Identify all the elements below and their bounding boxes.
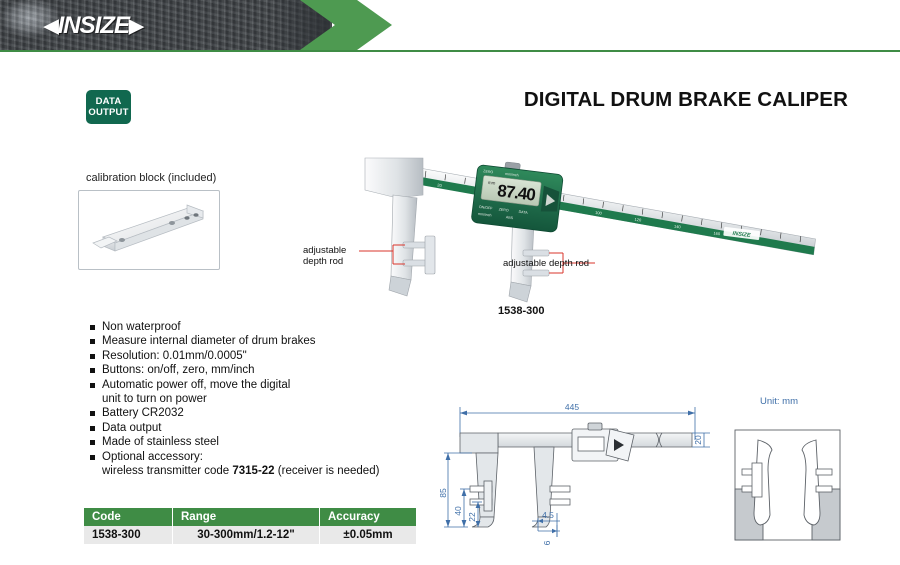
- accessory-code: 7315-22: [232, 465, 274, 477]
- calibration-block-drawing: [79, 191, 219, 269]
- accessory-prefix: wireless transmitter code: [102, 465, 232, 477]
- logo-left-arrow-icon: ◀: [44, 16, 58, 37]
- dimension-text-4-5: 4.5: [542, 510, 554, 520]
- table-row: 1538-300 30-300mm/1.2-12" ±0.05mm: [84, 526, 416, 544]
- dimension-text-20: 20: [693, 435, 703, 445]
- accessory-suffix: (receiver is needed): [275, 465, 380, 477]
- badge-line-2: OUTPUT: [88, 107, 128, 118]
- specification-table: Code Range Accuracy 1538-300 30-300mm/1.…: [84, 508, 416, 544]
- datasheet-page: ◀INSIZE▶ DATA OUTPUT DIGITAL DRUM BRAKE …: [0, 0, 900, 560]
- technical-drawing: 445: [420, 385, 900, 560]
- calibration-block-label: calibration block (included): [86, 172, 216, 184]
- annotation-label-left: adjustable depth rod: [303, 245, 346, 267]
- list-item: Non waterproof: [88, 320, 418, 334]
- optional-accessory-line: wireless transmitter code 7315-22 (recei…: [88, 464, 418, 478]
- dimension-text-40: 40: [453, 506, 463, 516]
- list-item: Buttons: on/off, zero, mm/inch: [88, 363, 418, 377]
- annotation-left-line-2: depth rod: [303, 256, 346, 267]
- badge-line-1: DATA: [96, 96, 122, 107]
- table-header-row: Code Range Accuracy: [84, 508, 416, 526]
- list-item: Optional accessory:: [88, 450, 418, 464]
- svg-text:mm: mm: [488, 180, 496, 186]
- calibration-block-image: [78, 190, 220, 270]
- dimension-text-85: 85: [438, 488, 448, 498]
- column-header-accuracy: Accuracy: [320, 508, 417, 526]
- list-item: Battery CR2032: [88, 406, 418, 420]
- column-header-code: Code: [84, 508, 173, 526]
- insize-logo: ◀INSIZE▶: [44, 12, 143, 40]
- dimension-text-445: 445: [565, 402, 579, 412]
- cell-code: 1538-300: [84, 526, 173, 544]
- column-header-range: Range: [173, 508, 320, 526]
- banner-divider: [0, 50, 900, 52]
- logo-text: INSIZE: [58, 12, 129, 39]
- feature-list-items: Non waterproof Measure internal diameter…: [88, 320, 418, 478]
- cross-section-view: [735, 430, 840, 540]
- data-output-badge: DATA OUTPUT: [86, 90, 131, 124]
- page-title: DIGITAL DRUM BRAKE CALIPER: [524, 88, 848, 112]
- product-photo: 2040 6080 100120 140160 INSIZE: [345, 150, 845, 315]
- cell-accuracy: ±0.05mm: [320, 526, 417, 544]
- list-item: Resolution: 0.01mm/0.0005": [88, 349, 418, 363]
- dimension-text-22: 22: [467, 512, 477, 522]
- technical-drawing-svg: 445: [420, 385, 900, 560]
- list-item: Measure internal diameter of drum brakes: [88, 334, 418, 348]
- dimension-text-6: 6: [542, 540, 552, 545]
- annotation-label-right: adjustable depth rod: [503, 258, 589, 269]
- page-banner: ◀INSIZE▶: [0, 0, 900, 50]
- product-model-caption: 1538-300: [498, 305, 545, 317]
- list-item: Automatic power off, move the digital: [88, 378, 418, 392]
- list-item: Made of stainless steel: [88, 435, 418, 449]
- feature-list: Non waterproof Measure internal diameter…: [88, 320, 418, 478]
- list-item-continuation: unit to turn on power: [88, 392, 418, 406]
- caliper-illustration: 2040 6080 100120 140160 INSIZE: [345, 150, 845, 315]
- annotation-left-line-1: adjustable: [303, 245, 346, 256]
- logo-right-arrow-icon: ▶: [129, 16, 143, 37]
- cell-range: 30-300mm/1.2-12": [173, 526, 320, 544]
- list-item: Data output: [88, 421, 418, 435]
